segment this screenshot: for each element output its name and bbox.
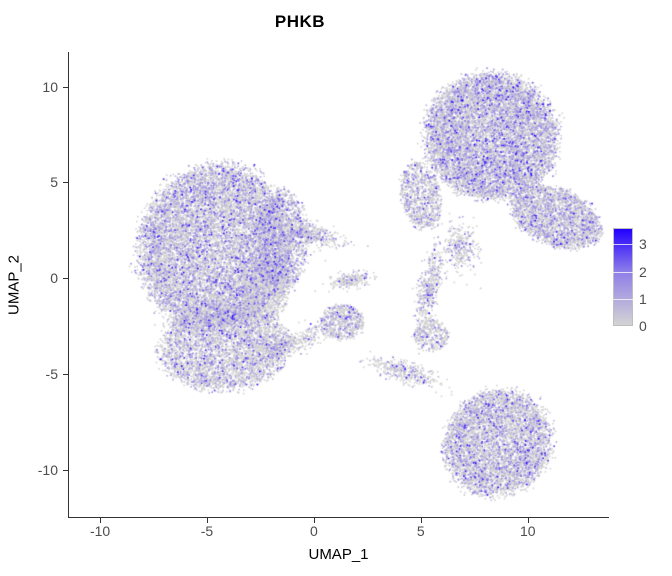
x-tick-label: -10	[90, 523, 110, 539]
umap-feature-plot: PHKB -10-50510 -10-50510 UMAP_1 UMAP_2 0…	[0, 0, 672, 576]
x-tick-label: -5	[201, 523, 213, 539]
colorbar-gradient	[613, 228, 633, 326]
x-axis-title: UMAP_1	[68, 546, 609, 563]
y-tick-label: -10	[38, 462, 58, 478]
y-tick-label: -5	[46, 366, 58, 382]
page-title: PHKB	[0, 12, 600, 32]
y-tick-mark	[63, 278, 68, 279]
y-axis-line	[68, 52, 69, 518]
y-tick-mark	[63, 470, 68, 471]
x-tick-label: 0	[310, 523, 318, 539]
y-tick-label: 10	[42, 79, 58, 95]
scatter-plot-area	[68, 52, 609, 518]
y-tick-mark	[63, 182, 68, 183]
y-tick-label: 5	[50, 174, 58, 190]
y-tick-label: 0	[50, 270, 58, 286]
colorbar-tick-label: 0	[639, 318, 647, 334]
expression-colorbar: 0123	[613, 228, 633, 326]
colorbar-tick-mark	[612, 326, 634, 327]
colorbar-tick-label: 1	[639, 291, 647, 307]
y-axis-title: UMAP_2	[6, 255, 23, 315]
y-tick-mark	[63, 374, 68, 375]
colorbar-tick-mark	[612, 272, 634, 273]
colorbar-tick-label: 2	[639, 264, 647, 280]
colorbar-tick-label: 3	[639, 236, 647, 252]
x-tick-label: 5	[417, 523, 425, 539]
x-tick-label: 10	[520, 523, 536, 539]
colorbar-tick-mark	[612, 299, 634, 300]
colorbar-tick-mark	[612, 244, 634, 245]
y-tick-mark	[63, 87, 68, 88]
